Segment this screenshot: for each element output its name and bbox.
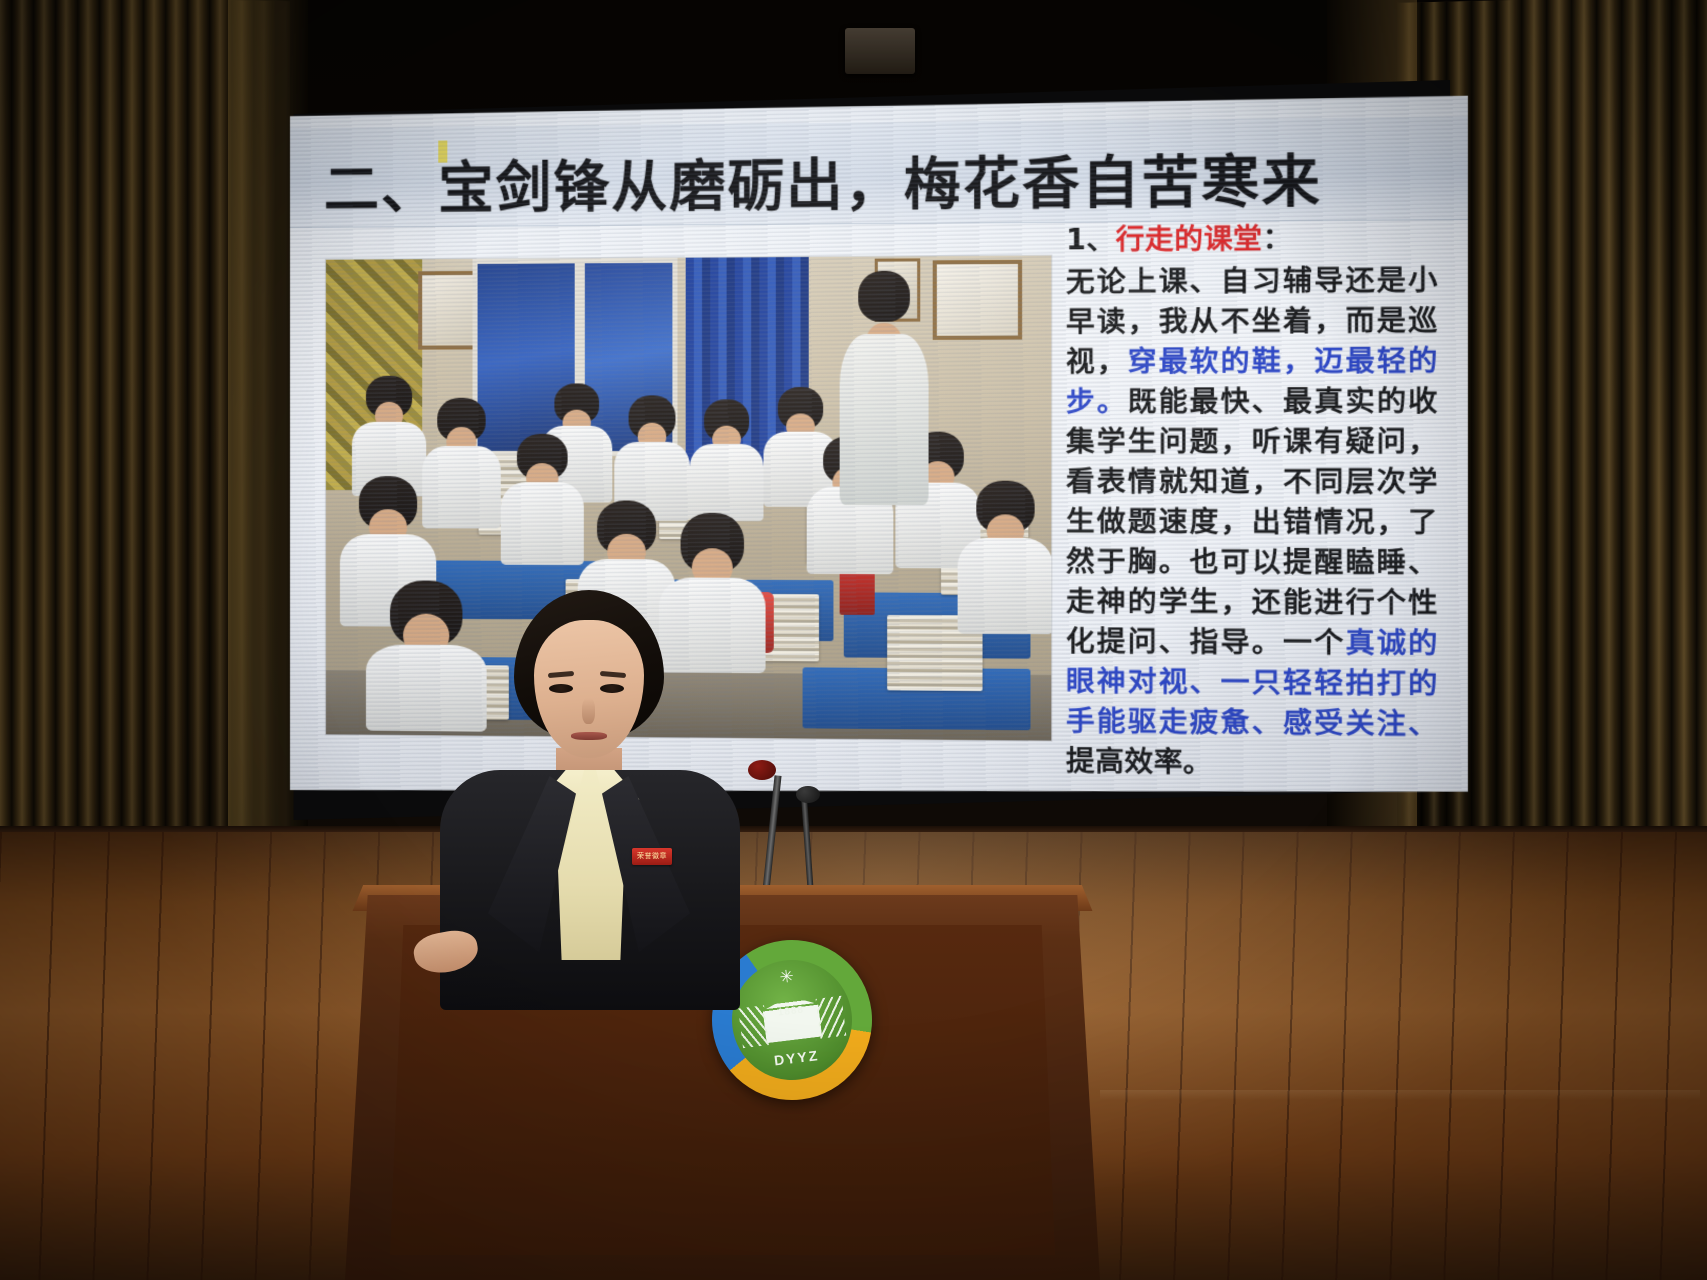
classroom-wall-board [418, 271, 480, 350]
slide-body-text: 1、行走的课堂： 无论上课、自习辅导还是小早读，我从不坐着，而是巡视，穿最软的鞋… [1066, 218, 1438, 785]
auditorium-scene: 二、宝剑锋从磨砺出，梅花香自苦寒来 [0, 0, 1707, 1280]
floor-light-streak [1100, 1090, 1700, 1100]
microphone-head-secondary [796, 786, 820, 803]
emblem-abbreviation: DYYZ [773, 1047, 820, 1068]
emblem-building-icon [761, 993, 822, 1043]
speaker-eye-left [549, 684, 573, 693]
emblem-wreath-left-icon [738, 1006, 769, 1049]
speaker-person: 荣誉徽章 [430, 580, 750, 1000]
speaker-mouth [571, 732, 607, 740]
ceiling-speaker-icon [845, 28, 915, 74]
emblem-star-icon: ✳ [779, 968, 795, 987]
classroom-student [958, 481, 1052, 635]
body-segment-3: 既能最快、最真实的收集学生问题，听课有疑问，看表情就知道，不同层次学生做题速度，… [1066, 385, 1438, 660]
heading-red-text: 行走的课堂 [1116, 222, 1263, 256]
microphone-head-primary [748, 760, 776, 780]
classroom-teacher [840, 271, 929, 505]
speaker-eye-right [600, 684, 624, 693]
slide-heading-line: 1、行走的课堂： [1066, 218, 1438, 260]
slide-title: 二、宝剑锋从磨砺出，梅花香自苦寒来 [324, 134, 1322, 223]
body-segment-5: 提高效率。 [1066, 745, 1212, 779]
emblem-wreath-right-icon [816, 996, 847, 1039]
speaker-lapel-badge: 荣誉徽章 [632, 848, 672, 865]
heading-number: 1、 [1066, 223, 1116, 256]
heading-colon: ： [1262, 222, 1292, 255]
speaker-nose [582, 698, 595, 724]
school-emblem-inner: ✳ 1888 DYYZ [725, 953, 859, 1087]
classroom-student [501, 434, 584, 565]
speaker-badge-text: 荣誉徽章 [632, 848, 672, 865]
classroom-poster [933, 260, 1022, 340]
classroom-student [690, 399, 764, 521]
slide-paragraph: 无论上课、自习辅导还是小早读，我从不坐着，而是巡视，穿最软的鞋，迈最轻的步。既能… [1066, 261, 1438, 786]
